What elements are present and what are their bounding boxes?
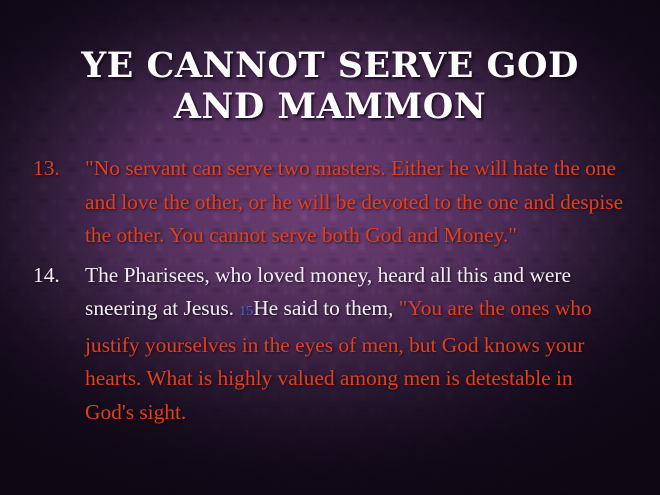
slide-content: YE CANNOT SERVE GOD AND MAMMON 13. "No s…: [0, 0, 660, 495]
presentation-slide: YE CANNOT SERVE GOD AND MAMMON 13. "No s…: [0, 0, 660, 495]
list-item-number: 13.: [33, 152, 73, 186]
scripture-list: 13. "No servant can serve two masters. E…: [0, 152, 660, 435]
slide-title: YE CANNOT SERVE GOD AND MAMMON: [40, 46, 620, 127]
list-item-text: The Pharisees, who loved money, heard al…: [85, 263, 592, 424]
verse-number-15: 15: [239, 304, 253, 319]
list-item-number: 14.: [33, 259, 73, 293]
text-segment-white: He said to them,: [253, 296, 398, 320]
list-item-text: "No servant can serve two masters. Eithe…: [85, 156, 623, 247]
text-segment-red: "No servant can serve two masters. Eithe…: [85, 156, 623, 247]
list-item: 13. "No servant can serve two masters. E…: [0, 152, 660, 253]
list-item: 14. The Pharisees, who loved money, hear…: [0, 259, 660, 430]
